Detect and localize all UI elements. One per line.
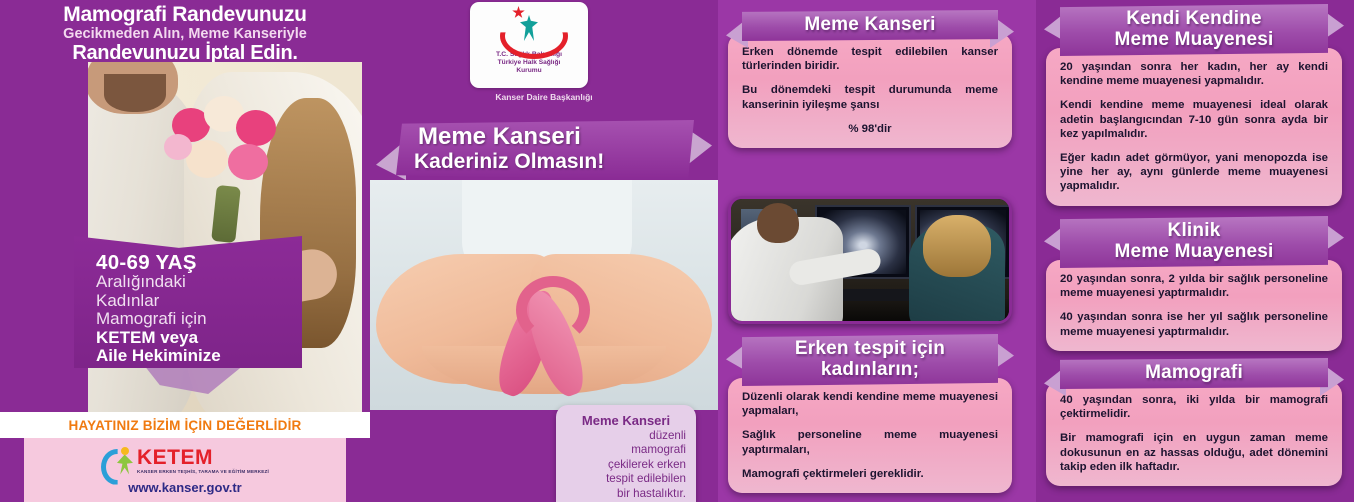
card-kendi-kendine-meme-muayenesi: Kendi Kendine Meme Muayenesi 20 yaşından… <box>1046 4 1342 206</box>
doctor-mammogram-photo <box>728 196 1012 324</box>
center-banner-line-2: Kaderiniz Olmasın! <box>396 150 694 173</box>
ketem-figure-icon <box>101 447 135 475</box>
card-paragraph: Mamografi çektirmeleri gereklidir. <box>742 467 998 481</box>
banner-shape: Mamografi <box>1060 358 1328 389</box>
card-body: 40 yaşından sonra, iki yılda bir mamogra… <box>1046 381 1342 486</box>
age-range-title: 40-69 YAŞ <box>96 252 302 273</box>
head-dot-icon <box>121 447 129 455</box>
card-paragraph: Bu dönemdeki tespit durumunda meme kanse… <box>742 83 998 111</box>
card-paragraph: Bir mamografi için en uygun zaman meme d… <box>1060 431 1328 474</box>
ministry-emblem-icon <box>496 5 562 51</box>
card-title-line-2: kadınların; <box>748 359 992 380</box>
ketem-logo-block: KETEM KANSER ERKEN TEŞHİS, TARAMA VE EĞİ… <box>24 438 346 502</box>
patient-hair <box>923 215 991 277</box>
star-icon <box>512 6 525 19</box>
banner-shape: Kendi Kendine Meme Muayenesi <box>1060 4 1328 56</box>
card-title-line-1: Kendi Kendine <box>1066 8 1322 29</box>
ketem-wordmark: KETEM <box>137 448 269 468</box>
doctor-head <box>757 203 799 243</box>
ketem-url[interactable]: www.kanser.gov.tr <box>128 480 241 495</box>
card-paragraph: 20 yaşından sonra her kadın, her ay kend… <box>1060 60 1328 88</box>
card-paragraph: 40 yaşından sonra ise her yıl sağlık per… <box>1060 310 1328 338</box>
ketem-logo: KETEM KANSER ERKEN TEŞHİS, TARAMA VE EĞİ… <box>101 446 269 476</box>
center-info-line-1: düzenli <box>566 429 686 442</box>
ministry-line-3: Kurumu <box>516 67 541 75</box>
card-title-line-2: Meme Muayenesi <box>1066 241 1322 262</box>
breast-cancer-awareness-poster: Mamografi Randevunuzu Gecikmeden Alın, M… <box>0 0 1354 502</box>
flower-bouquet <box>158 90 288 208</box>
pink-ribbon-icon <box>516 276 590 344</box>
ministry-logo: T.C. Sağlık Bakanlığı Türkiye Halk Sağlı… <box>470 2 588 88</box>
card-highlight-stat: % 98'dir <box>742 122 998 136</box>
banner-shape: Meme Kanseri <box>742 10 998 41</box>
card-title-line-1: Erken tespit için <box>748 338 992 359</box>
card-klinik-meme-muayenesi: Klinik Meme Muayenesi 20 yaşından sonra,… <box>1046 216 1342 351</box>
card-paragraph: 40 yaşından sonra, iki yılda bir mamogra… <box>1060 393 1328 421</box>
center-banner-line-1: Meme Kanseri <box>396 120 694 150</box>
card-banner: Erken tespit için kadınların; <box>728 334 1012 386</box>
left-panel: Mamografi Randevunuzu Gecikmeden Alın, M… <box>0 0 370 502</box>
age-range-line-4: Mamografi için <box>96 310 302 329</box>
center-info-title: Meme Kanseri <box>566 413 686 428</box>
ketem-subtitle: KANSER ERKEN TEŞHİS, TARAMA VE EĞİTİM ME… <box>137 469 269 474</box>
card-body: Düzenli olarak kendi kendine meme muayen… <box>728 378 1012 493</box>
card-banner: Klinik Meme Muayenesi <box>1046 216 1342 268</box>
center-info-line-4: tespit edilebilen <box>566 472 686 485</box>
card-meme-kanseri: Meme Kanseri Erken dönemde tespit edileb… <box>728 10 1012 148</box>
flower <box>186 140 228 178</box>
age-range-line-2: Aralığındaki <box>96 273 302 292</box>
card-paragraph: Eğer kadın adet görmüyor, yani menopozda… <box>1060 151 1328 194</box>
center-banner: Meme Kanseri Kaderiniz Olmasın! <box>396 120 694 180</box>
card-banner: Mamografi <box>1046 358 1342 389</box>
crescent-icon <box>500 13 568 59</box>
ministry-line-2: Türkiye Halk Sağlığı <box>498 59 561 67</box>
card-title: Mamografi <box>1066 362 1322 383</box>
card-erken-tespit: Erken tespit için kadınların; Düzenli ol… <box>728 334 1012 493</box>
flower <box>236 110 276 146</box>
card-body: 20 yaşından sonra her kadın, her ay kend… <box>1046 48 1342 206</box>
card-paragraph: Sağlık personeline meme muayenesi yaptır… <box>742 428 998 456</box>
card-banner: Kendi Kendine Meme Muayenesi <box>1046 4 1342 56</box>
card-title-line-2: Meme Muayenesi <box>1066 29 1322 50</box>
card-body: 20 yaşından sonra, 2 yılda bir sağlık pe… <box>1046 260 1342 351</box>
banner-shape: Klinik Meme Muayenesi <box>1060 216 1328 268</box>
center-panel: T.C. Sağlık Bakanlığı Türkiye Halk Sağlı… <box>370 0 718 502</box>
left-headline: Mamografi Randevunuzu Gecikmeden Alın, M… <box>0 0 370 62</box>
center-info-line-3: çekilerek erken <box>566 458 686 471</box>
card-paragraph: Düzenli olarak kendi kendine meme muayen… <box>742 390 998 418</box>
flower <box>228 144 268 180</box>
headline-line-2: Gecikmeden Alın, Meme Kanseriyle <box>0 26 370 42</box>
age-range-callout: 40-69 YAŞ Aralığındaki Kadınlar Mamograf… <box>74 236 302 368</box>
card-banner: Meme Kanseri <box>728 10 1012 41</box>
person-icon <box>117 455 133 475</box>
slogan-text: HAYATINIZ BİZİM İÇİN DEĞERLİDİR <box>69 418 302 433</box>
hands-ribbon-photo <box>370 180 718 410</box>
card-paragraph: Erken dönemde tespit edilebilen kanser t… <box>742 45 998 73</box>
banner-shape: Erken tespit için kadınların; <box>742 334 998 386</box>
card-paragraph: 20 yaşından sonra, 2 yılda bir sağlık pe… <box>1060 272 1328 300</box>
center-info-line-2: mamografi <box>566 443 686 456</box>
flower <box>164 134 192 160</box>
age-range-line-3: Kadınlar <box>96 292 302 311</box>
card-title-line-1: Klinik <box>1066 220 1322 241</box>
card-paragraph: Kendi kendine meme muayenesi ideal olara… <box>1060 98 1328 141</box>
age-range-line-6: Aile Hekiminize <box>96 347 302 366</box>
ministry-caption: Kanser Daire Başkanlığı <box>370 92 718 102</box>
headline-line-3: Randevunuzu İptal Edin. <box>0 42 370 64</box>
man-beard <box>104 74 166 112</box>
slogan-strip: HAYATINIZ BİZİM İÇİN DEĞERLİDİR <box>0 412 370 438</box>
center-info-line-5: bir hastalıktır. <box>566 487 686 500</box>
card-body: Erken dönemde tespit edilebilen kanser t… <box>728 33 1012 148</box>
center-info-box: Meme Kanseri düzenli mamografi çekilerek… <box>556 405 696 502</box>
headline-line-1: Mamografi Randevunuzu <box>0 4 370 26</box>
age-range-line-5: KETEM veya <box>96 329 302 348</box>
card-title: Meme Kanseri <box>748 14 992 35</box>
card-mamografi: Mamografi 40 yaşından sonra, iki yılda b… <box>1046 358 1342 486</box>
